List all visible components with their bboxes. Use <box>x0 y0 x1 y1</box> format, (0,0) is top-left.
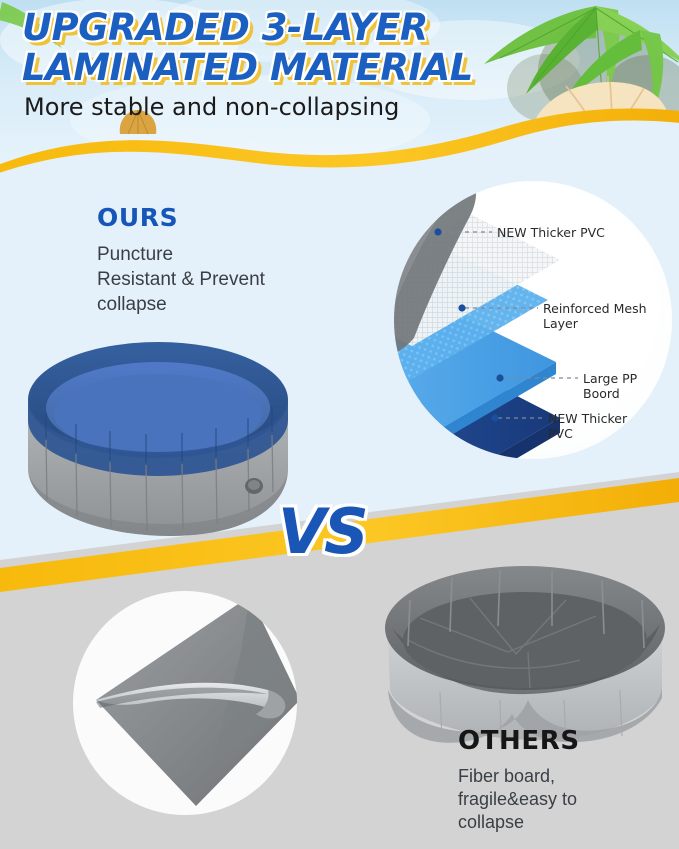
others-heading: OTHERS <box>458 726 580 756</box>
callout-label-bottom-pvc: NEW Thicker PVC <box>548 411 627 441</box>
callout-label-top-pvc: NEW Thicker PVC <box>497 225 605 240</box>
callout-label-mesh: Reinforced Mesh Layer <box>543 301 647 331</box>
ours-description: Puncture Resistant & Prevent collapse <box>97 242 312 317</box>
ours-heading: OURS <box>97 203 178 232</box>
others-description: Fiber board, fragile&easy to collapse <box>458 765 658 834</box>
callout-label-pp-board: Large PP Boord <box>583 371 637 401</box>
page-subtitle: More stable and non-collapsing <box>24 93 544 121</box>
infographic-root: UPGRADED 3-LAYER LAMINATED MATERIAL More… <box>0 0 679 849</box>
versus-badge: VS <box>278 501 367 563</box>
callout-dot-pp-board <box>496 374 503 381</box>
drain-plug-icon <box>245 478 263 494</box>
ours-pool-image <box>28 342 288 536</box>
page-title: UPGRADED 3-LAYER LAMINATED MATERIAL <box>22 8 492 88</box>
callout-dot-mesh <box>458 304 465 311</box>
others-pool-image <box>385 566 665 743</box>
callout-dot-top-pvc <box>434 228 441 235</box>
callout-dot-bottom-pvc <box>491 414 498 421</box>
